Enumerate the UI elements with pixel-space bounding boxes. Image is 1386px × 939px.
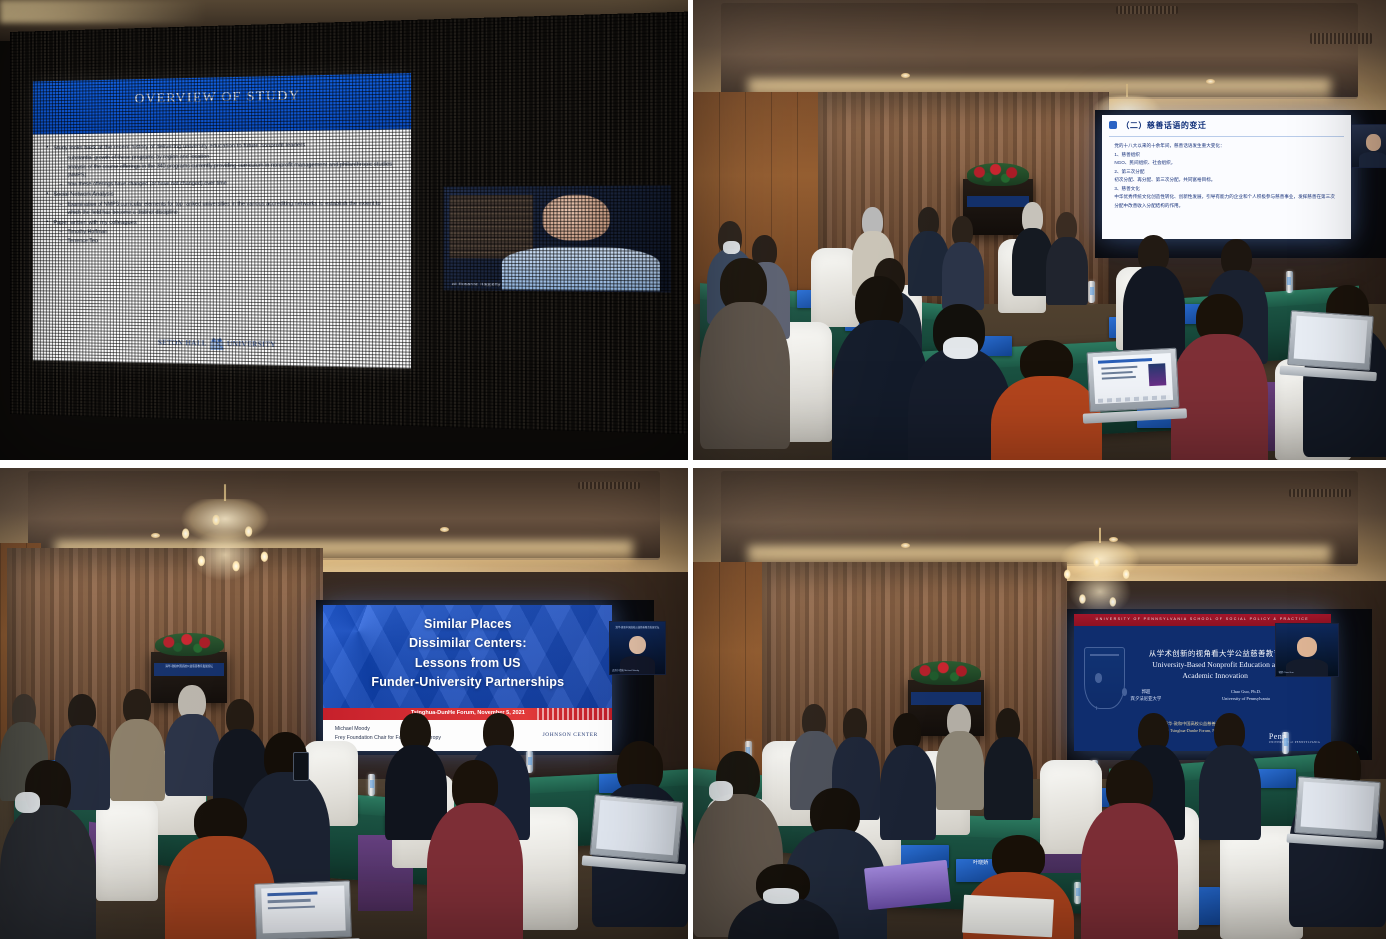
video-name-label: 郭超 Chao Guo <box>1279 670 1294 674</box>
chandelier-bulb <box>260 551 267 562</box>
attendee <box>110 689 165 797</box>
laptop-lid <box>1287 310 1374 371</box>
torso <box>427 803 523 939</box>
attendee <box>0 760 96 939</box>
smartphone[interactable] <box>293 752 309 781</box>
bookshelf <box>450 195 534 259</box>
remote-speaker-video-inset[interactable] <box>1351 124 1386 167</box>
seton-hall-logo: SETON HALLUNIVERSITY <box>33 332 411 354</box>
laptop-lid <box>254 881 352 939</box>
attendee <box>1081 760 1178 939</box>
speaker-torso <box>503 247 661 292</box>
chandelier-bulb <box>182 528 189 539</box>
photo-collage: OVERVIEW OF STUDY Study looks back at th… <box>0 0 1386 939</box>
doc-heading <box>1098 357 1152 363</box>
air-vent <box>1289 489 1351 497</box>
attendee-with-laptop <box>991 340 1102 460</box>
slide-title: （二）慈善话语的变迁 <box>1109 120 1344 137</box>
air-vent <box>578 482 640 489</box>
laptop[interactable] <box>1294 776 1381 838</box>
torso <box>728 898 839 939</box>
slide-bullet-list: Study looks back at the recent history o… <box>48 138 395 248</box>
title-line-2: Dissimilar Centers: <box>335 634 601 653</box>
video-banner: 清华-敦和中国高校公益慈善教育发展论坛 <box>612 625 663 631</box>
author-chinese: 郭超 宾夕法尼亚大学 <box>1118 688 1174 702</box>
attendee <box>1171 294 1268 460</box>
slide-title: Similar Places Dissimilar Centers: Lesso… <box>335 615 601 693</box>
bullet-6: Examination of NMPS curricular elements … <box>68 199 395 216</box>
slide-line: 党的十八大以来的十余年间，慈善话语发生重大变化： <box>1114 142 1339 150</box>
attendee <box>728 864 839 939</box>
title-line-1: Similar Places <box>335 615 601 634</box>
face-mask <box>723 241 739 254</box>
panel-top-left[interactable]: OVERVIEW OF STUDY Study looks back at th… <box>0 0 688 460</box>
laptop-lid <box>1294 776 1381 838</box>
attendee <box>700 258 790 442</box>
remote-speaker-video-inset[interactable]: 郭超 Chao Guo <box>1275 623 1339 677</box>
water-bottle <box>1286 271 1293 293</box>
laptop[interactable] <box>1086 347 1179 411</box>
conference-room-scene: 清华-敦和中国高校公益慈善教育发展论坛 Similar Places Dissi… <box>0 468 688 939</box>
slide-line: 1、慈善组织 <box>1114 151 1339 159</box>
laptop-screen <box>596 800 677 855</box>
air-vent <box>1116 6 1178 14</box>
air-vent <box>1310 33 1372 44</box>
face-mask <box>763 888 798 904</box>
led-wall-room: OVERVIEW OF STUDY Study looks back at th… <box>0 0 688 460</box>
slide-line: 3、慈善文化 <box>1114 185 1339 193</box>
laptop-screen <box>1300 781 1374 831</box>
bullet-5: Social Network Analysis <box>54 189 395 199</box>
doc-line <box>1101 366 1137 370</box>
author-cn-affiliation: 宾夕法尼亚大学 <box>1118 695 1174 702</box>
face-mask <box>943 337 978 359</box>
flower-arrangement <box>155 633 224 657</box>
bullet-3: analysis of the course offerings in the … <box>68 160 395 179</box>
title-line-3: Lessons from US <box>335 654 601 673</box>
laptop[interactable] <box>254 881 352 939</box>
doc-line <box>1102 371 1133 375</box>
paper-handout <box>962 894 1054 936</box>
flower-arrangement <box>967 163 1029 186</box>
laptop-screen <box>1093 353 1173 404</box>
video-name-label: 迈克尔·穆迪 Michael Moody <box>612 668 639 672</box>
conference-folder <box>864 859 951 910</box>
torso <box>1171 334 1268 460</box>
speaker-head <box>1297 637 1317 657</box>
johnson-center-logo: JOHNSON CENTER <box>543 732 598 738</box>
torso <box>880 745 935 841</box>
attendee <box>942 216 984 308</box>
video-name-label: all Rosanne Haggerty <box>452 281 501 287</box>
author-en-affiliation: University of Pennsylvania <box>1207 695 1284 702</box>
attendee <box>880 713 935 835</box>
title-line-4: Funder-University Partnerships <box>335 673 601 692</box>
attendee <box>427 760 523 939</box>
speaker-torso <box>1359 152 1386 167</box>
dock <box>1098 394 1169 402</box>
speaker-head <box>1366 134 1381 151</box>
doc-image <box>1148 362 1166 386</box>
laptop[interactable] <box>1287 310 1374 371</box>
torso <box>1199 745 1261 841</box>
panel-bottom-right[interactable]: UNIVERSITY OF PENNSYLVANIA SCHOOL OF SOC… <box>693 468 1386 939</box>
author-en-name: Chao Guo, Ph.D. <box>1207 688 1284 695</box>
chair <box>96 798 158 902</box>
remote-speaker-video-inset[interactable]: 清华-敦和中国高校公益慈善教育发展论坛 迈克尔·穆迪 Michael Moody <box>609 621 666 675</box>
chandelier-bulb <box>213 514 220 525</box>
laptop-lid <box>1086 347 1179 411</box>
led-video-wall: OVERVIEW OF STUDY Study looks back at th… <box>10 10 688 436</box>
water-bottle <box>1088 281 1095 303</box>
podium-banner: 清华-敦和中国高校公益慈善教育发展论坛 <box>154 663 224 675</box>
laptop-screen <box>260 886 344 934</box>
remote-speaker-video-inset[interactable]: all Rosanne Haggerty <box>445 185 672 293</box>
slide-line: 2、第三次分配 <box>1114 168 1339 176</box>
university-crest-icon <box>209 335 225 351</box>
slide-chinese-philanthropy-discourse: （二）慈善话语的变迁 党的十八大以来的十余年间，慈善话语发生重大变化： 1、慈善… <box>1102 115 1351 239</box>
author-cn-name: 郭超 <box>1118 688 1174 695</box>
speaker-head <box>543 195 611 241</box>
torso <box>984 737 1033 819</box>
bullet-8: Timothy Hoffman <box>68 229 395 238</box>
chandelier-bulb <box>1109 596 1116 606</box>
laptop[interactable] <box>589 794 683 863</box>
downlight <box>1206 79 1215 84</box>
chandelier <box>162 484 288 600</box>
torso <box>1081 803 1178 939</box>
chandelier-bulb <box>1079 594 1086 604</box>
face-mask <box>15 792 40 813</box>
chandelier-bulb <box>1063 569 1070 579</box>
doc-line <box>267 899 310 903</box>
slide-line: NGO、民间组织、社会组织， <box>1114 159 1339 167</box>
torso <box>0 805 96 939</box>
slide-overview-of-study: OVERVIEW OF STUDY Study looks back at th… <box>33 73 411 369</box>
water-bottle <box>368 774 375 796</box>
author-english: Chao Guo, Ph.D. University of Pennsylvan… <box>1207 688 1284 702</box>
panel-top-right[interactable]: （二）慈善话语的变迁 党的十八大以来的十余年间，慈善话语发生重大变化： 1、慈善… <box>693 0 1386 460</box>
doc-line <box>1102 375 1136 379</box>
bullet-7: Paper written with my colleagues <box>54 219 395 228</box>
slide-title-text: （二）慈善话语的变迁 <box>1121 121 1206 130</box>
torso <box>936 731 985 810</box>
conference-room-scene: UNIVERSITY OF PENNSYLVANIA SCHOOL OF SOC… <box>693 468 1386 939</box>
slide-body: 党的十八大以来的十余年间，慈善话语发生重大变化： 1、慈善组织 NGO、民间组织… <box>1114 142 1339 210</box>
chandelier-bulb <box>197 556 204 567</box>
chandelier-crystals <box>171 499 280 589</box>
conference-room-scene: （二）慈善话语的变迁 党的十八大以来的十余年间，慈善话语发生重大变化： 1、慈善… <box>693 0 1386 460</box>
logo-text-left: SETON HALL <box>158 339 207 348</box>
laptop-lid <box>589 794 683 863</box>
water-bottle <box>1074 882 1081 904</box>
torso <box>942 242 984 310</box>
doc-line <box>268 906 315 910</box>
attendee <box>165 685 220 793</box>
downlight <box>901 73 910 78</box>
torso <box>165 714 220 796</box>
bullet-9: Terrence Teo <box>68 238 395 247</box>
chandelier-bulb <box>1122 569 1129 579</box>
doc-line <box>267 892 317 896</box>
bullet-square-icon <box>1109 121 1117 129</box>
attendee <box>936 704 985 808</box>
panel-bottom-left[interactable]: 清华-敦和中国高校公益慈善教育发展论坛 Similar Places Dissi… <box>0 468 688 939</box>
attendee <box>1046 212 1088 304</box>
cove-light <box>0 0 206 23</box>
presentation-screen[interactable]: （二）慈善话语的变迁 党的十八大以来的十余年间，慈善话语发生重大变化： 1、慈善… <box>1102 115 1351 239</box>
logo-text-right: UNIVERSITY <box>227 340 276 349</box>
torso <box>110 719 165 801</box>
attendee <box>1199 713 1261 835</box>
chandelier-bulb <box>233 560 240 571</box>
torso <box>1046 237 1088 305</box>
flower-arrangement <box>911 661 980 685</box>
laptop-screen <box>1293 315 1367 363</box>
chandelier-bulb <box>1093 557 1100 567</box>
slide-line: 中华优秀传统文化创造性转化、创新性发展，引导有能力的企业和个人积极参与慈善事业，… <box>1114 193 1339 210</box>
bullet-4: how these offerings have changed (or hav… <box>68 178 395 188</box>
torso <box>700 302 790 449</box>
speaker-head <box>629 636 647 655</box>
attendee <box>984 708 1033 816</box>
slide-line: 初次分配、再分配、第三次分配，共同富裕目标。 <box>1114 176 1339 184</box>
face-mask <box>709 781 732 801</box>
